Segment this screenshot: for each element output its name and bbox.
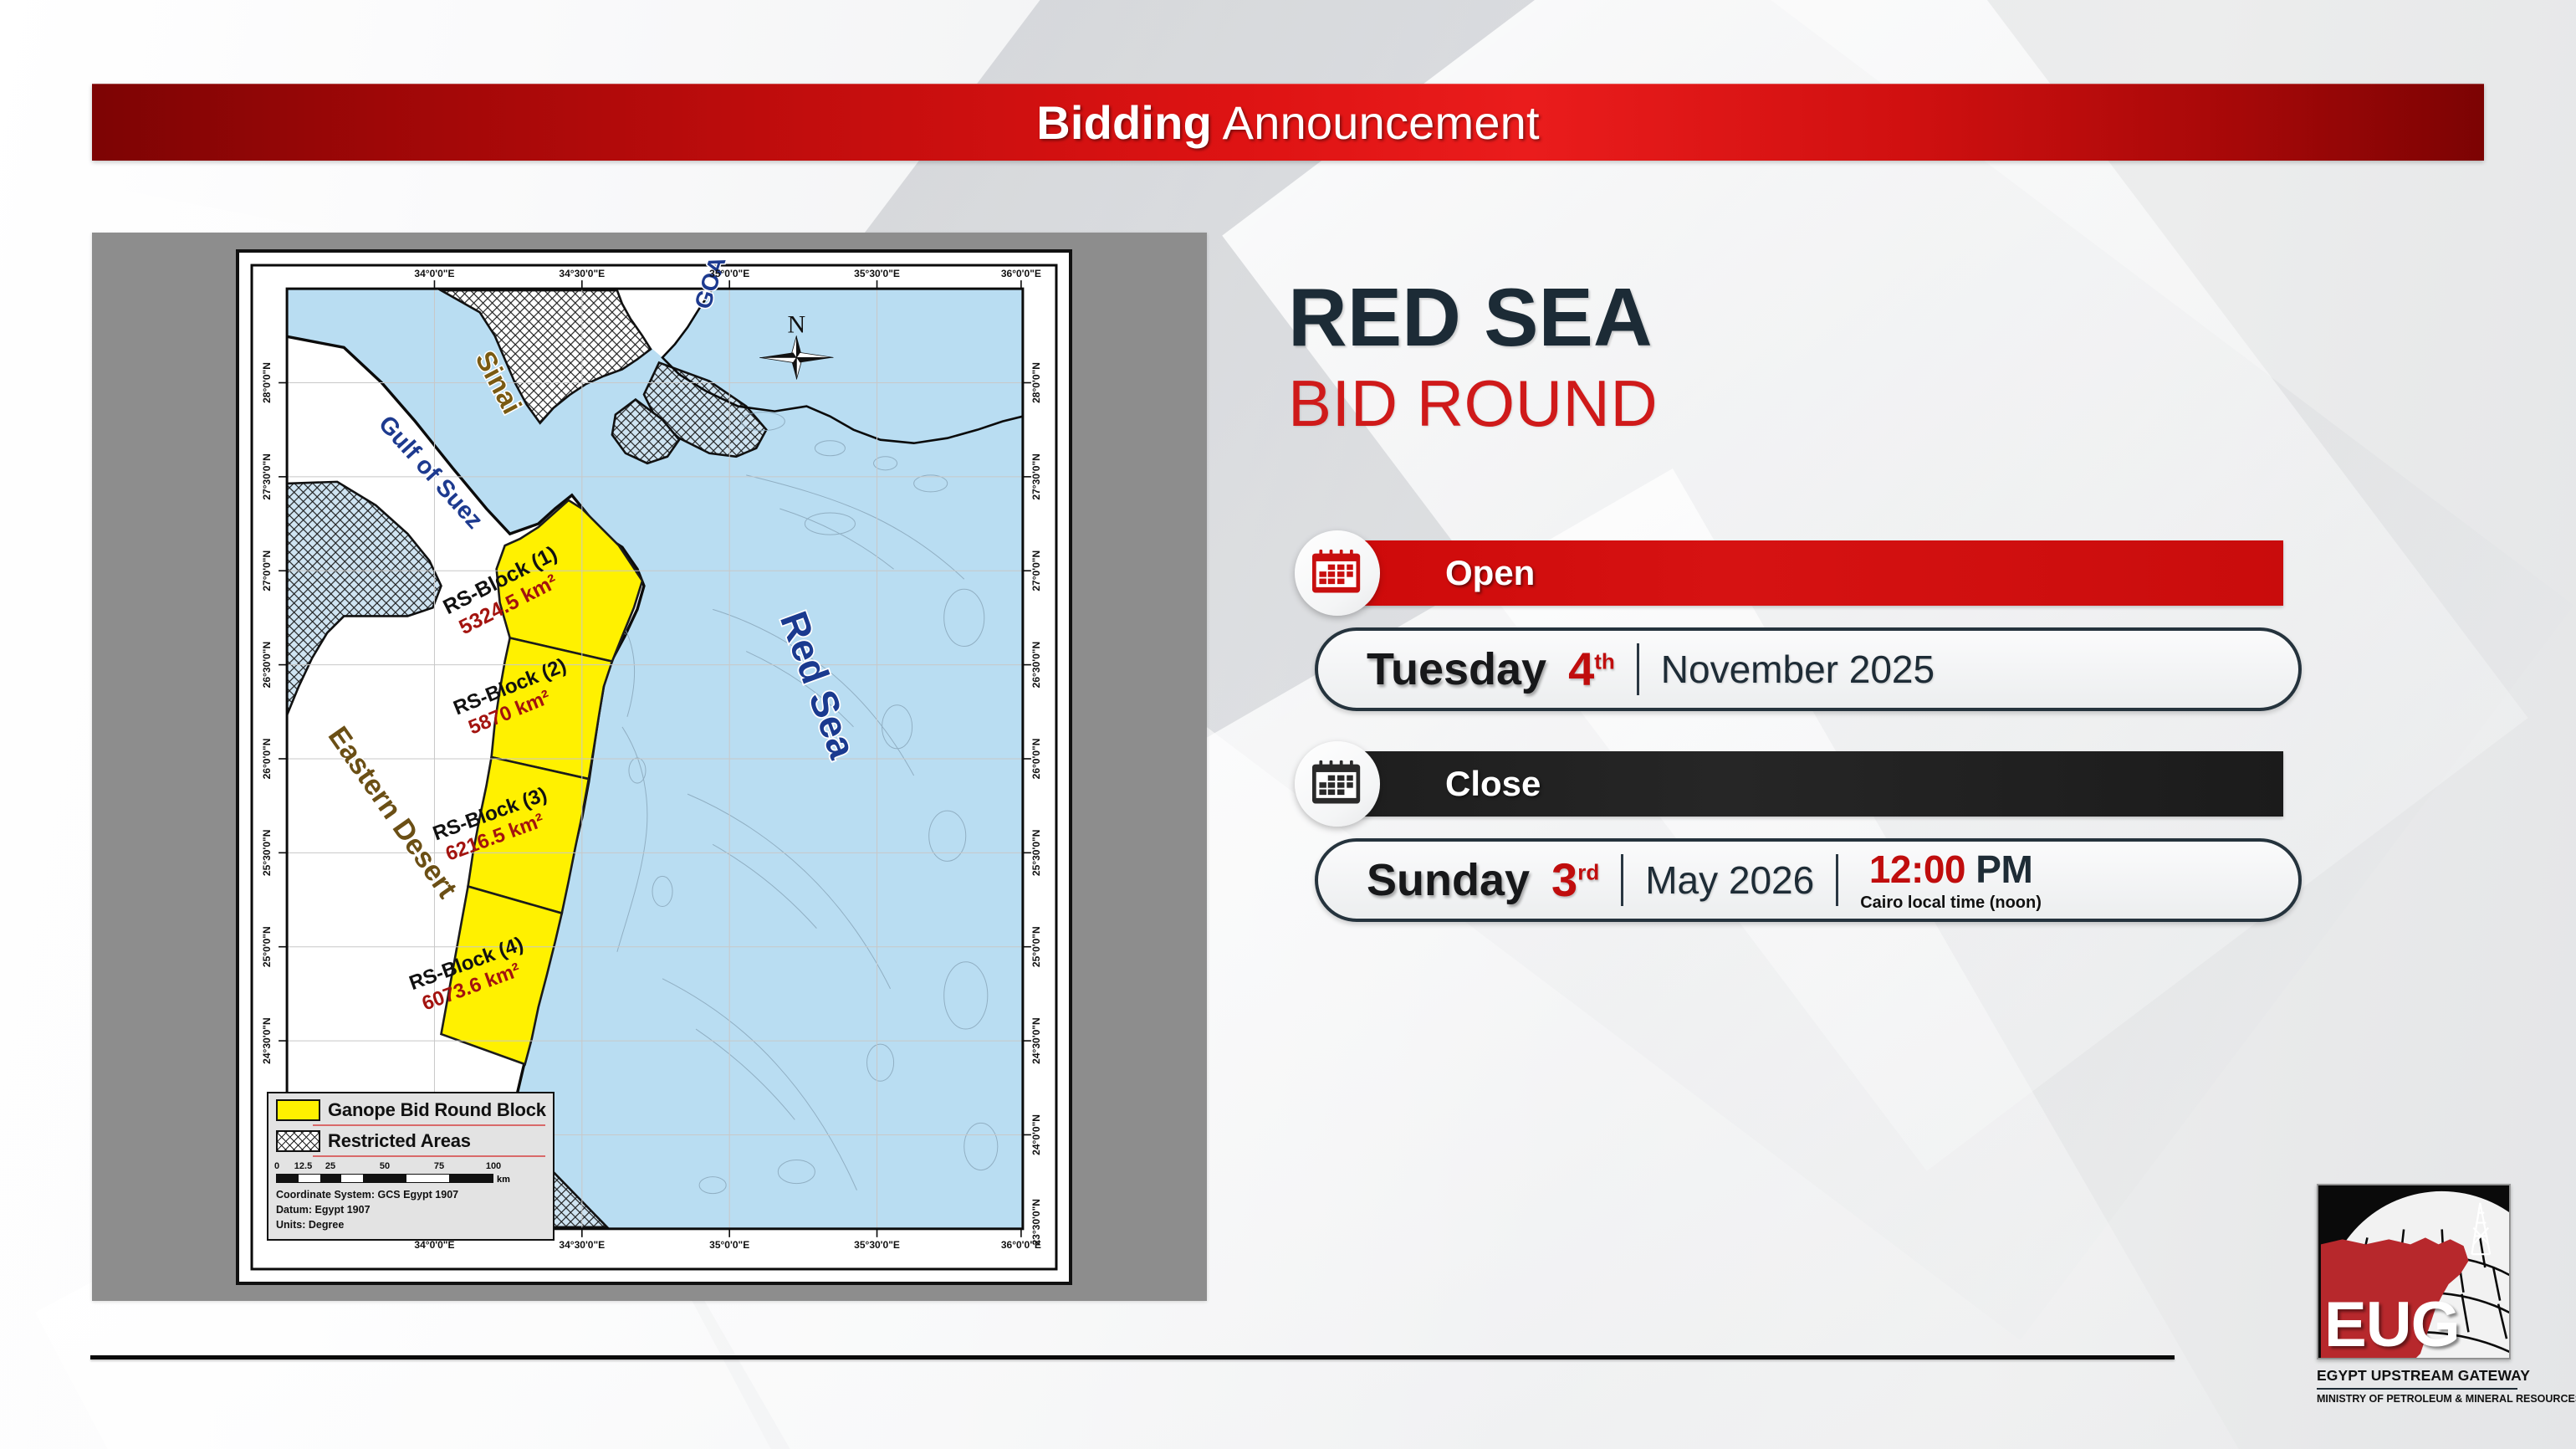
status-label-close: Close bbox=[1445, 764, 1541, 804]
svg-text:24°30'0"N: 24°30'0"N bbox=[261, 1017, 273, 1063]
logo-ministry-name: MINISTRY OF PETROLEUM & MINERAL RESOURCE… bbox=[2317, 1393, 2517, 1405]
calendar-icon-close-badge bbox=[1295, 741, 1380, 827]
calendar-icon bbox=[1312, 548, 1362, 598]
svg-text:34°30'0"E: 34°30'0"E bbox=[559, 1239, 605, 1251]
logo-divider bbox=[2317, 1388, 2517, 1390]
svg-text:23°30'0"N: 23°30'0"N bbox=[1030, 1199, 1042, 1245]
svg-text:25°0'0"N: 25°0'0"N bbox=[1030, 926, 1042, 967]
eug-logo-mark: EUG bbox=[2317, 1184, 2511, 1359]
scale-unit-label: km bbox=[497, 1175, 510, 1185]
close-time: 12:00 PM bbox=[1869, 847, 2032, 892]
hero-title: RED SEA bbox=[1288, 276, 2459, 358]
legend-swatch-block bbox=[276, 1099, 320, 1121]
svg-text:27°30'0"N: 27°30'0"N bbox=[1030, 453, 1042, 499]
map-frame: N Sinai Gulf of Suez bbox=[236, 249, 1072, 1285]
map-panel: N Sinai Gulf of Suez bbox=[92, 233, 1207, 1301]
close-divider-2 bbox=[1836, 854, 1838, 906]
map-datum: Datum: Egypt 1907 bbox=[276, 1202, 545, 1217]
map-units: Units: Degree bbox=[276, 1217, 545, 1232]
legend-label-restricted: Restricted Areas bbox=[328, 1130, 471, 1152]
legend-row-restricted: Restricted Areas bbox=[276, 1130, 545, 1152]
status-bar-close: Close bbox=[1355, 751, 2283, 817]
date-pill-open[interactable]: Tuesday 4th November 2025 bbox=[1315, 627, 2302, 711]
map-coordinate-system: Coordinate System: GCS Egypt 1907 bbox=[276, 1187, 545, 1202]
svg-text:28°0'0"N: 28°0'0"N bbox=[261, 362, 273, 403]
svg-text:35°0'0"E: 35°0'0"E bbox=[709, 1239, 749, 1251]
svg-text:28°0'0"N: 28°0'0"N bbox=[1030, 362, 1042, 403]
svg-text:27°30'0"N: 27°30'0"N bbox=[261, 453, 273, 499]
svg-text:34°30'0"E: 34°30'0"E bbox=[559, 268, 605, 279]
page-title-light: Announcement bbox=[1212, 96, 1540, 149]
map-metadata: Coordinate System: GCS Egypt 1907 Datum:… bbox=[276, 1187, 545, 1232]
logo-block: EUG EGYPT UPSTREAM GATEWAY MINISTRY OF P… bbox=[2317, 1184, 2517, 1405]
svg-text:25°30'0"N: 25°30'0"N bbox=[261, 830, 273, 876]
svg-text:25°0'0"N: 25°0'0"N bbox=[261, 926, 273, 967]
open-month-year: November 2025 bbox=[1661, 647, 1935, 692]
calendar-icon bbox=[1312, 759, 1362, 809]
svg-text:26°0'0"N: 26°0'0"N bbox=[1030, 739, 1042, 780]
legend-divider-2 bbox=[313, 1155, 545, 1157]
svg-text:26°30'0"N: 26°30'0"N bbox=[261, 642, 273, 688]
svg-text:25°30'0"N: 25°30'0"N bbox=[1030, 830, 1042, 876]
hero-subtitle: BID ROUND bbox=[1288, 366, 2459, 442]
svg-text:26°0'0"N: 26°0'0"N bbox=[261, 739, 273, 780]
legend-divider-1 bbox=[313, 1124, 545, 1126]
svg-text:24°30'0"N: 24°30'0"N bbox=[1030, 1017, 1042, 1063]
schedule-close: Close bbox=[1288, 751, 2459, 817]
svg-text:27°0'0"N: 27°0'0"N bbox=[1030, 550, 1042, 591]
close-time-note: Cairo local time (noon) bbox=[1860, 893, 2042, 913]
svg-text:35°30'0"E: 35°30'0"E bbox=[854, 1239, 900, 1251]
date-pill-close[interactable]: Sunday 3rd May 2026 12:00 PM Cairo local… bbox=[1315, 838, 2302, 922]
map-canvas[interactable]: N Sinai Gulf of Suez bbox=[243, 257, 1065, 1277]
map-legend: Ganope Bid Round Block Restricted Areas … bbox=[267, 1092, 555, 1241]
schedule-open: Open bbox=[1288, 540, 2459, 606]
open-divider bbox=[1637, 643, 1639, 695]
header-banner: Bidding Announcement bbox=[92, 84, 2484, 161]
svg-text:36°0'0"E: 36°0'0"E bbox=[1001, 268, 1041, 279]
open-day-number: 4th bbox=[1568, 642, 1615, 696]
footer-divider bbox=[90, 1355, 2175, 1359]
svg-text:26°30'0"N: 26°30'0"N bbox=[1030, 642, 1042, 688]
scale-bar-graphic bbox=[276, 1174, 493, 1183]
close-day-number: 3rd bbox=[1551, 853, 1599, 907]
svg-text:35°30'0"E: 35°30'0"E bbox=[854, 268, 900, 279]
page-title: Bidding Announcement bbox=[1036, 95, 1540, 150]
close-month-year: May 2026 bbox=[1645, 858, 1814, 903]
svg-text:34°0'0"E: 34°0'0"E bbox=[414, 268, 454, 279]
page-title-bold: Bidding bbox=[1036, 96, 1212, 149]
calendar-icon-open-badge bbox=[1295, 530, 1380, 616]
open-weekday: Tuesday bbox=[1367, 643, 1546, 695]
map-scale-bar: 012.5255075100 km bbox=[276, 1161, 545, 1183]
content-column: RED SEA BID ROUND Open bbox=[1288, 276, 2459, 922]
close-weekday: Sunday bbox=[1367, 854, 1530, 906]
svg-text:N: N bbox=[787, 310, 805, 338]
logo-mark-text: EUG bbox=[2324, 1295, 2460, 1355]
svg-text:24°0'0"N: 24°0'0"N bbox=[1030, 1114, 1042, 1155]
legend-label-block: Ganope Bid Round Block bbox=[328, 1099, 546, 1121]
status-bar-open: Open bbox=[1355, 540, 2283, 606]
legend-swatch-restricted bbox=[276, 1130, 320, 1152]
logo-organization-name: EGYPT UPSTREAM GATEWAY bbox=[2317, 1367, 2517, 1385]
close-divider-1 bbox=[1621, 854, 1623, 906]
svg-text:27°0'0"N: 27°0'0"N bbox=[261, 550, 273, 591]
legend-row-block: Ganope Bid Round Block bbox=[276, 1099, 545, 1121]
close-time-group: 12:00 PM Cairo local time (noon) bbox=[1860, 847, 2042, 913]
svg-text:35°0'0"E: 35°0'0"E bbox=[709, 268, 749, 279]
status-label-open: Open bbox=[1445, 553, 1535, 593]
scale-numbers: 012.5255075100 bbox=[276, 1161, 545, 1174]
